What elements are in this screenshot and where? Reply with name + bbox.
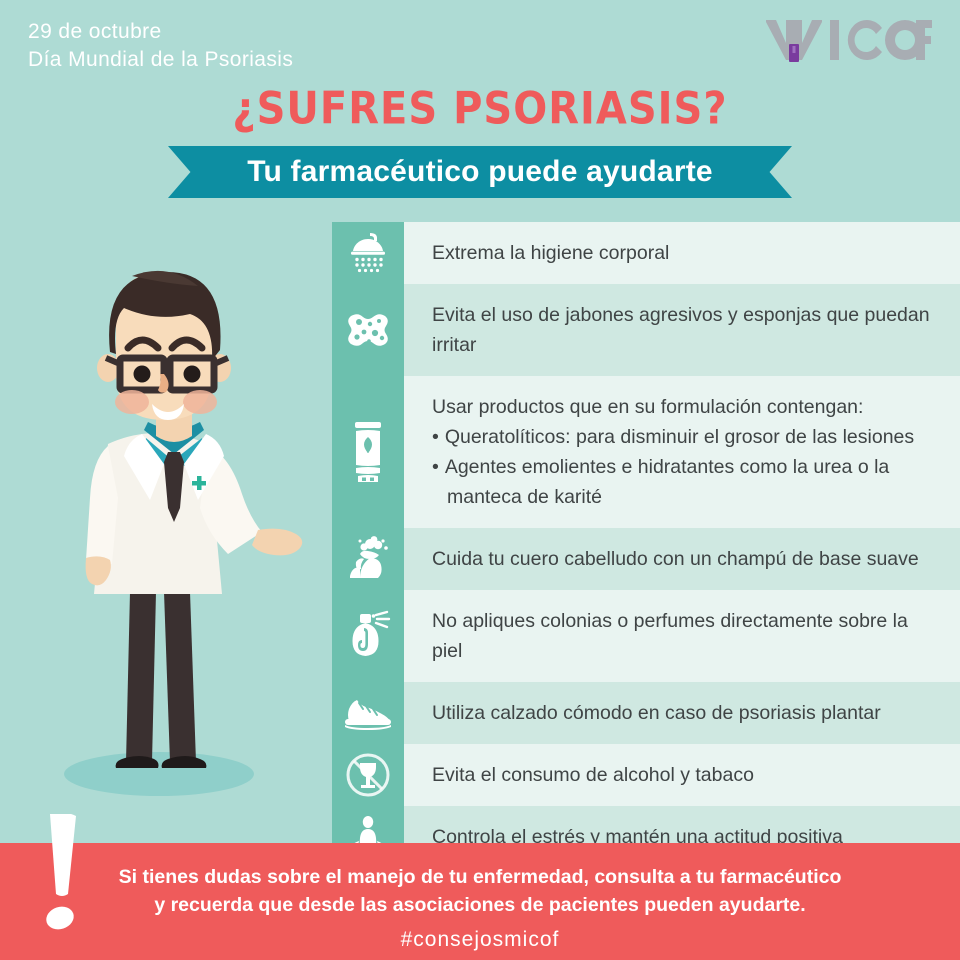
tip-bullet-item: Queratolíticos: para disminuir el grosor…	[432, 422, 938, 452]
pharmacist-illustration	[34, 262, 334, 842]
no-alcohol-icon	[344, 751, 392, 799]
shower-icon	[346, 230, 390, 276]
tip-bullet-list: Queratolíticos: para disminuir el grosor…	[432, 422, 938, 512]
tip-icon-cell	[332, 376, 404, 528]
tip-lead-text: Cuida tu cuero cabelludo con un champú d…	[432, 544, 938, 574]
psoriasis-infographic-poster: 29 de octubre Día Mundial de la Psoriasi…	[0, 0, 960, 960]
tip-lead-text: Extrema la higiene corporal	[432, 238, 938, 268]
cream-tube-icon	[349, 420, 387, 484]
poster-ribbon-subtitle: Tu farmacéutico puede ayudarte	[168, 146, 792, 198]
figure-shadow	[64, 752, 254, 796]
tip-row: Usar productos que en su formulación con…	[332, 376, 960, 528]
tip-row: No apliques colonias o perfumes directam…	[332, 590, 960, 682]
tip-row: Utiliza calzado cómodo en caso de psoria…	[332, 682, 960, 744]
tip-lead-text: Evita el consumo de alcohol y tabaco	[432, 760, 938, 790]
tip-lead-text: Utiliza calzado cómodo en caso de psoria…	[432, 698, 938, 728]
footer-banner: Si tienes dudas sobre el manejo de tu en…	[0, 843, 960, 960]
shampoo-hair-wash-icon	[344, 536, 392, 582]
tip-icon-cell	[332, 682, 404, 744]
tip-icon-cell	[332, 590, 404, 682]
tip-text-cell: Cuida tu cuero cabelludo con un champú d…	[404, 528, 960, 590]
pharmacist-figure	[34, 262, 334, 842]
tips-list: Extrema la higiene corporal Evita el uso…	[332, 222, 960, 868]
sponge-icon	[345, 310, 391, 350]
tip-lead-text: Evita el uso de jabones agresivos y espo…	[432, 300, 938, 360]
tip-text-cell: Utiliza calzado cómodo en caso de psoria…	[404, 682, 960, 744]
tip-text-cell: Extrema la higiene corporal	[404, 222, 960, 284]
tip-lead-text: Usar productos que en su formulación con…	[432, 392, 938, 422]
footer-hashtag: #consejosmicof	[0, 928, 960, 952]
tip-text-cell: Evita el consumo de alcohol y tabaco	[404, 744, 960, 806]
tip-text-cell: Evita el uso de jabones agresivos y espo…	[404, 284, 960, 376]
micof-logo	[764, 16, 932, 64]
tip-row: Extrema la higiene corporal	[332, 222, 960, 284]
footer-message: Si tienes dudas sobre el manejo de tu en…	[0, 843, 960, 919]
tip-lead-text: No apliques colonias o perfumes directam…	[432, 606, 938, 666]
micof-logo-wordmark	[764, 16, 932, 64]
tip-row: Evita el consumo de alcohol y tabaco	[332, 744, 960, 806]
tip-text-cell: Usar productos que en su formulación con…	[404, 376, 960, 528]
tip-text-cell: No apliques colonias o perfumes directam…	[404, 590, 960, 682]
tip-icon-cell	[332, 284, 404, 376]
tip-icon-cell	[332, 528, 404, 590]
tip-icon-cell	[332, 744, 404, 806]
perfume-bottle-icon	[344, 610, 392, 662]
tip-row: Evita el uso de jabones agresivos y espo…	[332, 284, 960, 376]
awareness-date-heading: 29 de octubre Día Mundial de la Psoriasi…	[28, 18, 293, 74]
tip-icon-cell	[332, 222, 404, 284]
sneaker-icon	[342, 696, 394, 730]
tip-bullet-item: Agentes emolientes e hidratantes como la…	[432, 452, 938, 512]
poster-question-title: ¿SUFRES PSORIASIS?	[0, 83, 960, 135]
tip-row: Cuida tu cuero cabelludo con un champú d…	[332, 528, 960, 590]
